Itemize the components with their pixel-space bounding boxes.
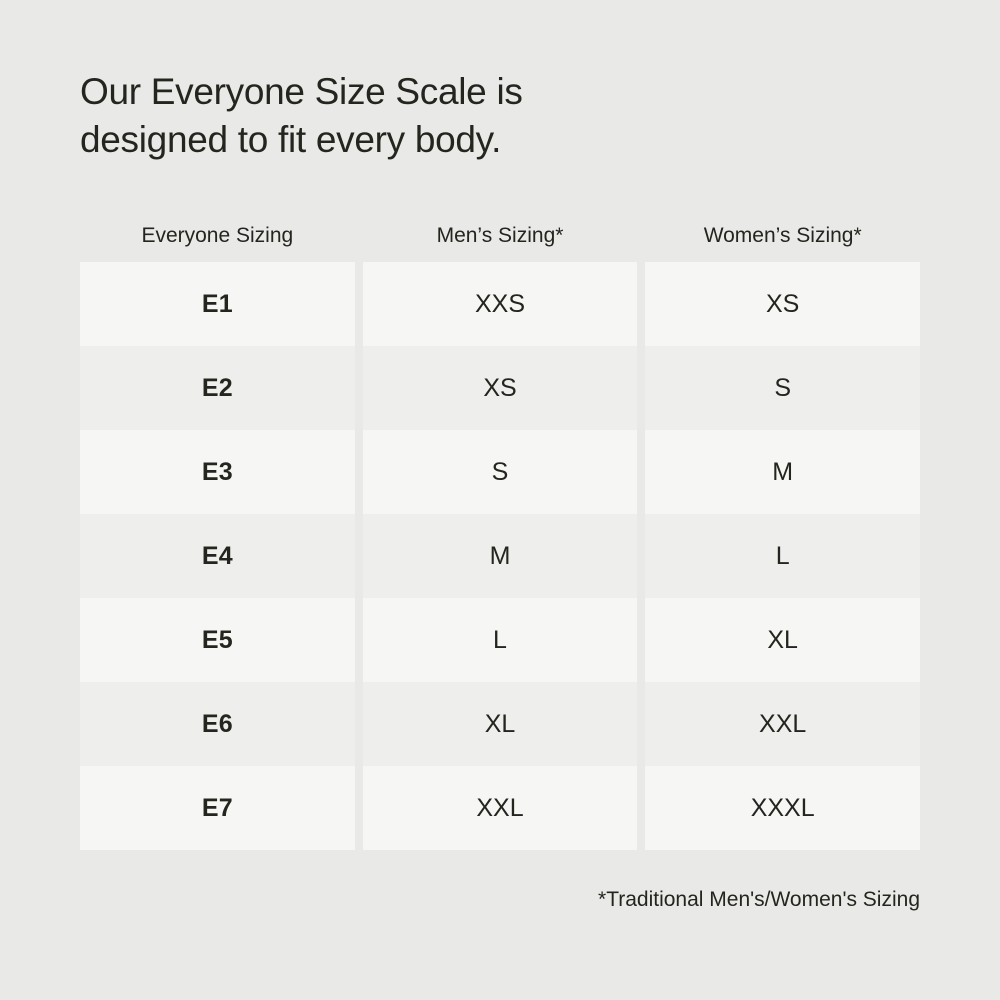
cell-everyone-size: E3	[80, 430, 355, 514]
cell-mens-size: M	[363, 514, 638, 598]
cell-womens-size: M	[645, 430, 920, 514]
table-body: E1 XXS XS E2 XS S E3 S M E4 M L E5 L	[80, 262, 920, 850]
cell-mens-size: XL	[363, 682, 638, 766]
table-row: E6 XL XXL	[80, 682, 920, 766]
cell-everyone-size: E2	[80, 346, 355, 430]
cell-womens-size: L	[645, 514, 920, 598]
cell-mens-size: XXL	[363, 766, 638, 850]
table-row: E3 S M	[80, 430, 920, 514]
table-row: E2 XS S	[80, 346, 920, 430]
cell-womens-size: XXL	[645, 682, 920, 766]
cell-womens-size: XL	[645, 598, 920, 682]
cell-mens-size: XS	[363, 346, 638, 430]
column-header-womens: Women’s Sizing*	[645, 224, 920, 248]
table-row: E4 M L	[80, 514, 920, 598]
table-row: E1 XXS XS	[80, 262, 920, 346]
cell-mens-size: XXS	[363, 262, 638, 346]
cell-everyone-size: E7	[80, 766, 355, 850]
cell-womens-size: XS	[645, 262, 920, 346]
cell-womens-size: S	[645, 346, 920, 430]
cell-everyone-size: E4	[80, 514, 355, 598]
cell-mens-size: L	[363, 598, 638, 682]
cell-mens-size: S	[363, 430, 638, 514]
cell-everyone-size: E6	[80, 682, 355, 766]
column-header-mens: Men’s Sizing*	[363, 224, 638, 248]
cell-everyone-size: E1	[80, 262, 355, 346]
size-conversion-table: Everyone Sizing Men’s Sizing* Women’s Si…	[80, 210, 920, 850]
table-row: E7 XXL XXXL	[80, 766, 920, 850]
table-row: E5 L XL	[80, 598, 920, 682]
cell-womens-size: XXXL	[645, 766, 920, 850]
cell-everyone-size: E5	[80, 598, 355, 682]
table-footnote: *Traditional Men's/Women's Sizing	[598, 888, 920, 912]
table-header-row: Everyone Sizing Men’s Sizing* Women’s Si…	[80, 210, 920, 262]
column-header-everyone: Everyone Sizing	[80, 224, 355, 248]
size-chart-page: Our Everyone Size Scale is designed to f…	[0, 0, 1000, 1000]
page-title: Our Everyone Size Scale is designed to f…	[80, 68, 800, 164]
